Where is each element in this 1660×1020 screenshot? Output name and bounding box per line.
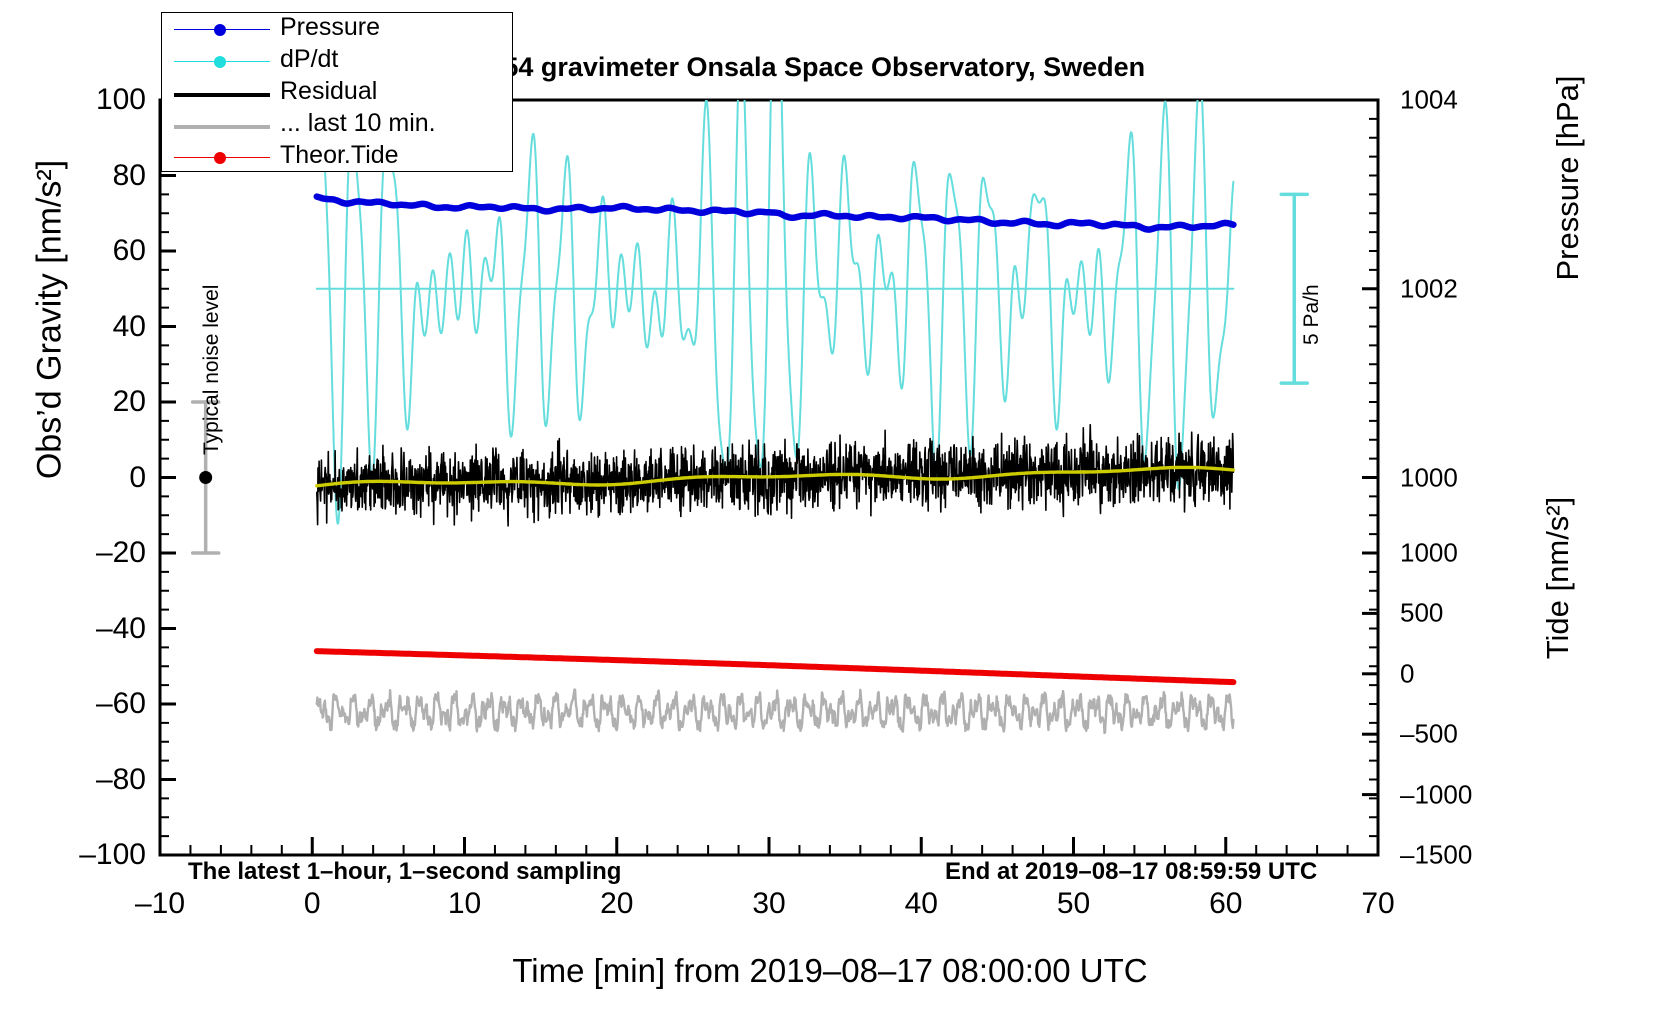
chart-canvas: SCG_054 gravimeter Onsala Space Observat… — [0, 0, 1660, 1020]
legend-line-swatch — [174, 93, 270, 97]
y-tick-label-right-tide: 0 — [1400, 658, 1520, 689]
y-tick-label-right-tide: 1000 — [1400, 538, 1520, 569]
series-pressure — [317, 197, 1234, 230]
legend-item-residual[interactable]: Residual — [162, 79, 512, 109]
legend-item-theor-tide[interactable]: Theor.Tide — [162, 143, 512, 173]
y-tick-label-left: –100 — [26, 838, 146, 872]
x-tick-label: 10 — [405, 887, 525, 921]
legend-item-pressure[interactable]: Pressure — [162, 15, 512, 45]
y-tick-label-left: 0 — [26, 461, 146, 495]
y-tick-label-right-pressure: 1000 — [1400, 462, 1520, 493]
legend-label: ... last 10 min. — [280, 109, 436, 138]
legend-item-dp-dt[interactable]: dP/dt — [162, 47, 512, 77]
series-last-10-min — [317, 690, 1234, 733]
y-tick-label-left: –60 — [26, 687, 146, 721]
legend-item-last-10-min[interactable]: ... last 10 min. — [162, 111, 512, 141]
x-tick-label: 20 — [557, 887, 677, 921]
y-tick-label-left: –20 — [26, 536, 146, 570]
y-tick-label-left: 100 — [26, 83, 146, 117]
x-tick-label: 60 — [1166, 887, 1286, 921]
legend-marker-dot — [214, 56, 226, 68]
series-theor-tide — [317, 651, 1234, 682]
x-tick-label: –10 — [100, 887, 220, 921]
x-tick-label: 30 — [709, 887, 829, 921]
y-tick-label-left: 80 — [26, 159, 146, 193]
x-tick-label: 70 — [1318, 887, 1438, 921]
legend-label: Theor.Tide — [280, 141, 399, 170]
legend-marker-dot — [214, 24, 226, 36]
x-tick-label: 40 — [861, 887, 981, 921]
y-tick-label-right-tide: –1500 — [1400, 840, 1520, 871]
y-tick-label-left: 20 — [26, 385, 146, 419]
y-tick-label-right-pressure: 1002 — [1400, 273, 1520, 304]
legend-marker-dot — [214, 152, 226, 164]
y-tick-label-left: –80 — [26, 763, 146, 797]
x-tick-label: 0 — [252, 887, 372, 921]
y-tick-label-left: 40 — [26, 310, 146, 344]
y-tick-label-left: –40 — [26, 612, 146, 646]
typical-noise-level-label: Typical noise level — [200, 265, 224, 455]
y-tick-label-right-tide: –1000 — [1400, 779, 1520, 810]
legend-label: Residual — [280, 77, 377, 106]
scalebar-label: 5 Pa/h — [1300, 195, 1324, 345]
legend-label: dP/dt — [280, 45, 338, 74]
x-tick-label: 50 — [1014, 887, 1134, 921]
y-tick-label-right-pressure: 1004 — [1400, 85, 1520, 116]
noise-center-dot — [199, 471, 212, 484]
y-tick-label-right-tide: 500 — [1400, 598, 1520, 629]
legend: PressuredP/dtResidual... last 10 min.The… — [161, 12, 513, 172]
legend-label: Pressure — [280, 13, 380, 42]
y-tick-label-left: 60 — [26, 234, 146, 268]
legend-line-swatch — [174, 125, 270, 129]
y-tick-label-right-tide: –500 — [1400, 719, 1520, 750]
